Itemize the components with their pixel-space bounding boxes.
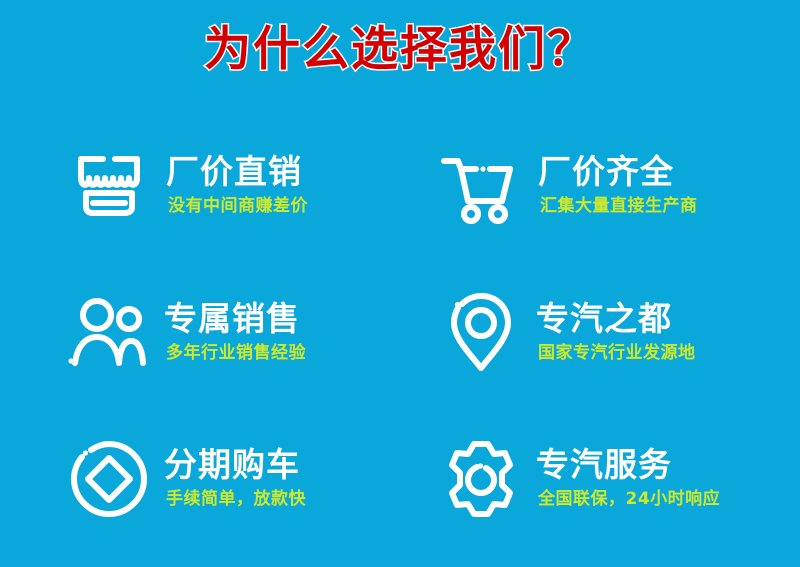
feature-title: 专汽服务 [536, 447, 720, 484]
feature-item-factory-direct-sales[interactable]: 厂价直销 没有中间商赚差价 [0, 112, 400, 259]
feature-subtitle: 国家专汽行业发源地 [538, 343, 696, 363]
feature-subtitle: 全国联保，24小时响应 [538, 489, 720, 509]
feature-item-special-vehicle-capital[interactable]: 专汽之都 国家专汽行业发源地 [400, 259, 800, 406]
feature-title: 厂价直销 [166, 154, 308, 191]
storefront-icon [66, 142, 152, 228]
features-grid: 厂价直销 没有中间商赚差价 [0, 112, 800, 552]
feature-item-special-vehicle-service[interactable]: 专汽服务 全国联保，24小时响应 [400, 405, 800, 552]
feature-text-group: 专汽之都 国家专汽行业发源地 [536, 301, 696, 363]
feature-subtitle: 手续简单，放款快 [166, 489, 306, 509]
page-title-text: 为什么选择我们？ [204, 22, 596, 77]
feature-item-dedicated-sales[interactable]: 专属销售 多年行业销售经验 [0, 259, 400, 406]
feature-text-group: 分期购车 手续简单，放款快 [164, 447, 306, 509]
feature-subtitle: 没有中间商赚差价 [168, 196, 308, 216]
feature-text-group: 厂价直销 没有中间商赚差价 [166, 154, 308, 216]
diamond-in-circle-icon [66, 436, 152, 522]
feature-item-full-factory-range[interactable]: 厂价齐全 汇集大量直接生产商 [400, 112, 800, 259]
feature-subtitle: 多年行业销售经验 [166, 343, 306, 363]
two-people-icon [66, 289, 152, 375]
shopping-cart-icon [438, 142, 524, 228]
feature-text-group: 专属销售 多年行业销售经验 [164, 301, 306, 363]
gear-icon [438, 436, 524, 522]
map-pin-icon [438, 289, 524, 375]
feature-subtitle: 汇集大量直接生产商 [540, 196, 698, 216]
feature-title: 分期购车 [164, 447, 306, 484]
feature-title: 厂价齐全 [538, 154, 698, 191]
feature-title: 专属销售 [164, 301, 306, 338]
feature-text-group: 厂价齐全 汇集大量直接生产商 [538, 154, 698, 216]
feature-title: 专汽之都 [536, 301, 696, 338]
feature-item-installment-purchase[interactable]: 分期购车 手续简单，放款快 [0, 405, 400, 552]
page-title: 为什么选择我们？ [0, 22, 800, 77]
feature-text-group: 专汽服务 全国联保，24小时响应 [536, 447, 720, 509]
why-choose-us-poster: 为什么选择我们？ [0, 0, 800, 567]
